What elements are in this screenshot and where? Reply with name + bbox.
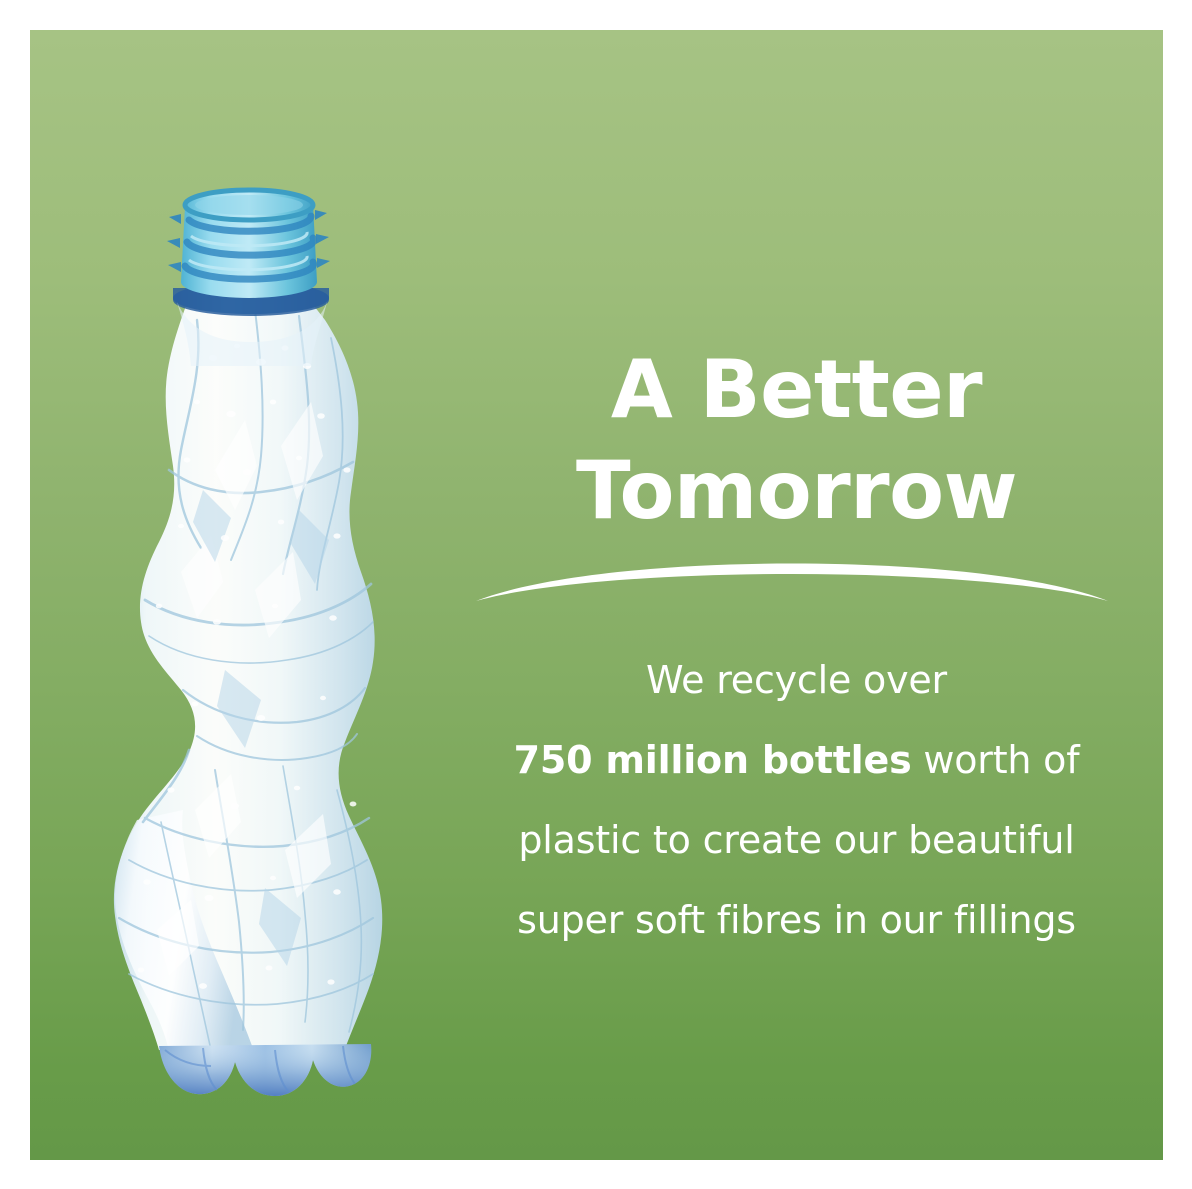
green-gradient-panel: A Better Tomorrow We recycle over 750 mi… — [30, 30, 1163, 1160]
bottle-base — [159, 1044, 371, 1096]
bottle-thread-highlights — [189, 232, 307, 270]
bottle-base-creases — [165, 1046, 355, 1092]
body-line-2-rest: worth of — [911, 738, 1079, 782]
bottle-neck — [181, 189, 317, 298]
bottle-shoulder — [177, 302, 327, 366]
bottle-threads — [185, 216, 314, 279]
page-title-line-2: Tomorrow — [430, 440, 1163, 541]
bottle-rim — [185, 190, 313, 220]
arc-divider-shape — [476, 564, 1108, 602]
page-title-line-1: A Better — [430, 339, 1163, 440]
crushed-bottle-image — [85, 170, 425, 1100]
bottle-opening — [195, 195, 303, 215]
highlight-bottles-count: 750 million bottles — [514, 738, 912, 782]
body-line-1: We recycle over — [430, 640, 1163, 720]
bottle-creases — [119, 310, 373, 1050]
bottle-body — [114, 300, 382, 1054]
bottle-base-shade — [159, 1044, 371, 1096]
arc-divider — [472, 545, 1112, 605]
bottle-shadows — [193, 490, 329, 966]
bottle-highlights — [157, 402, 331, 976]
bottle-support-ring-edge — [173, 288, 329, 316]
body-line-3: plastic to create our beautiful — [430, 800, 1163, 880]
bottle-thread-nubs — [167, 210, 330, 272]
body-line-4: super soft fibres in our fillings — [430, 880, 1163, 960]
page-title: A Better Tomorrow — [430, 339, 1163, 541]
bottle-droplets — [138, 344, 357, 989]
poster-frame: A Better Tomorrow We recycle over 750 mi… — [0, 0, 1192, 1189]
body-copy: We recycle over 750 million bottles wort… — [430, 640, 1163, 960]
bottle-support-ring — [173, 282, 329, 314]
bottle-lower-flap — [115, 810, 255, 1054]
body-line-2: 750 million bottles worth of — [430, 720, 1163, 800]
text-column: A Better Tomorrow We recycle over 750 mi… — [430, 30, 1163, 1160]
